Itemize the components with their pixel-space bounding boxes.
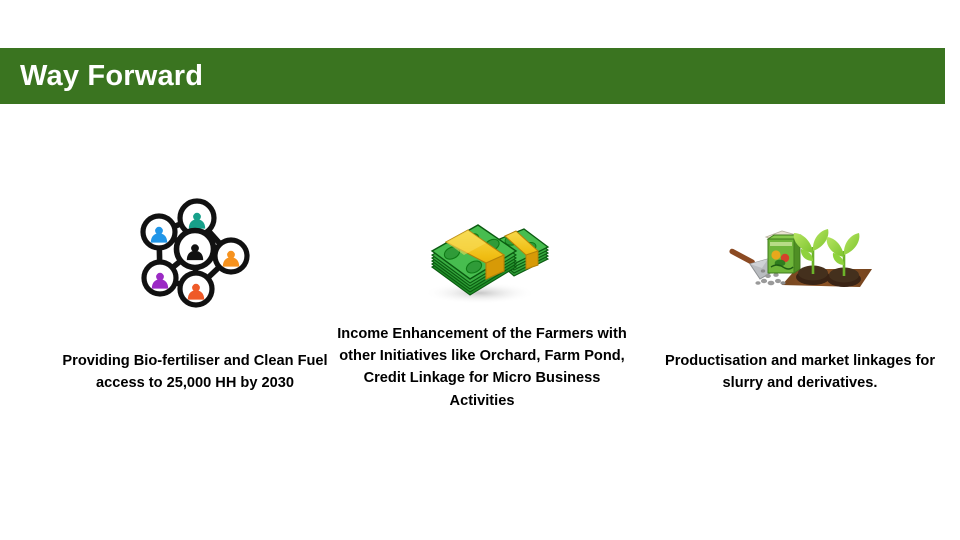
column-productisation: Productisation and market linkages for s… [640,160,960,480]
network-node-right [215,240,247,272]
slide-canvas: Way Forward [0,0,960,540]
column-caption: Providing Bio-fertiliser and Clean Fuel … [35,350,355,394]
seedlings-fertiliser-icon [640,192,960,322]
content-columns: Providing Bio-fertiliser and Clean Fuel … [0,160,960,480]
column-caption: Productisation and market linkages for s… [640,350,960,394]
column-caption: Income Enhancement of the Farmers with o… [322,323,642,412]
page-title: Way Forward [0,62,203,91]
money-stacks-icon [322,190,642,320]
network-node-bottom-left [144,262,176,294]
seedling-right [827,233,861,287]
seedlings-fertiliser-graphic [720,211,880,303]
network-node-left [143,216,175,248]
network-node-bottom [180,273,212,305]
title-banner: Way Forward [0,48,945,104]
money-stacks-graphic [412,203,552,307]
people-network-graphic [136,196,254,306]
network-node-center [177,231,214,268]
column-bio-fertiliser: Providing Bio-fertiliser and Clean Fuel … [35,160,355,480]
people-network-icon [35,186,355,316]
column-income-enhancement: Income Enhancement of the Farmers with o… [322,160,642,480]
